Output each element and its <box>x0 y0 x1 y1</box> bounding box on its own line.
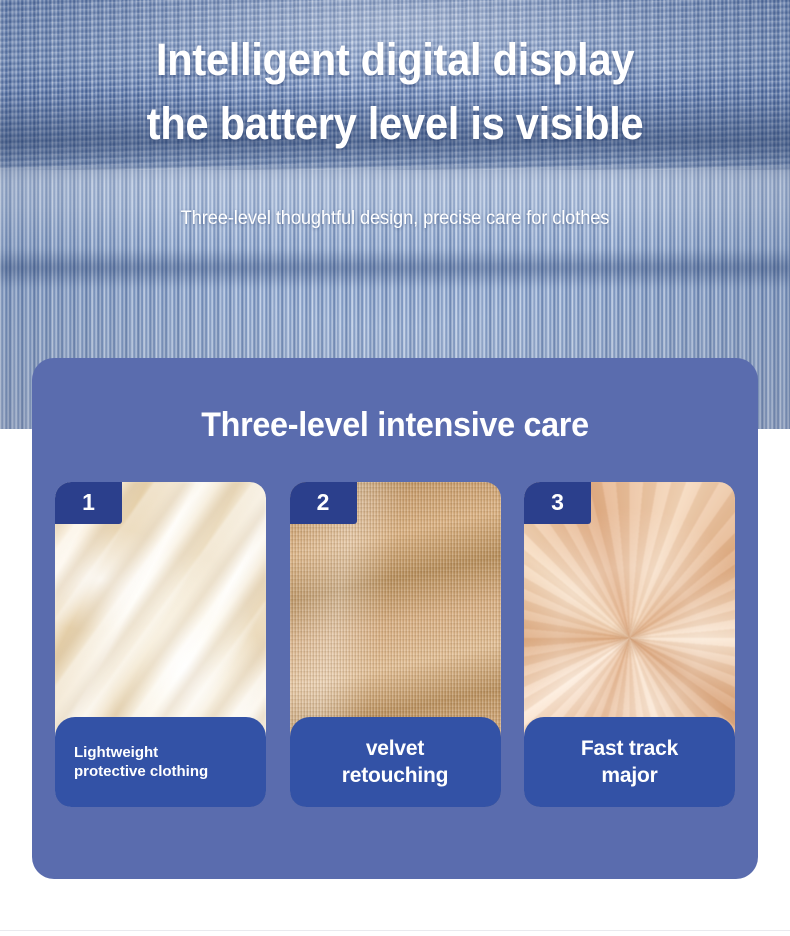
care-level-card-list: 1 Lightweight protective clothing 2 velv… <box>55 482 735 807</box>
hero-title: Intelligent digital display the battery … <box>28 28 763 156</box>
card-number-badge: 1 <box>55 482 122 524</box>
care-level-card[interactable]: 2 velvet retouching <box>290 482 501 807</box>
hero-subtitle: Three-level thoughtful design, precise c… <box>16 208 774 230</box>
intensive-care-panel: Three-level intensive care 1 Lightweight… <box>32 358 758 879</box>
care-level-card[interactable]: 1 Lightweight protective clothing <box>55 482 266 807</box>
hero-title-line-2: the battery level is visible <box>28 92 763 156</box>
bottom-divider <box>0 930 790 931</box>
card-caption: velvet retouching <box>290 717 501 807</box>
card-caption: Fast track major <box>524 717 735 807</box>
care-level-card[interactable]: 3 Fast track major <box>524 482 735 807</box>
card-caption: Lightweight protective clothing <box>55 717 266 807</box>
card-caption-line-1: Lightweight <box>74 743 252 763</box>
card-caption-line-1: velvet <box>304 735 487 762</box>
product-detail-page: Intelligent digital display the battery … <box>0 0 790 936</box>
card-caption-line-1: Fast track <box>538 735 721 762</box>
card-number-badge: 2 <box>290 482 357 524</box>
panel-title: Three-level intensive care <box>50 406 740 445</box>
bottom-spacer <box>0 879 790 936</box>
card-number-badge: 3 <box>524 482 591 524</box>
card-caption-line-2: major <box>538 762 721 789</box>
card-caption-line-2: protective clothing <box>74 762 252 782</box>
hero-title-line-1: Intelligent digital display <box>28 28 763 92</box>
card-caption-line-2: retouching <box>304 762 487 789</box>
